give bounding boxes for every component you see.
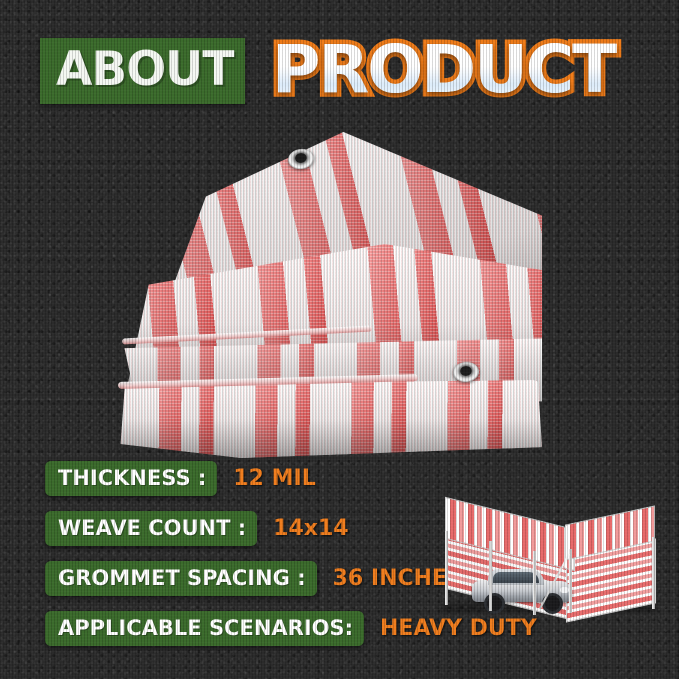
infographic-page: ABOUT PRODUCT PRODUCT xyxy=(0,0,679,679)
spec-label-badge: THICKNESS : xyxy=(45,461,217,496)
spec-label-badge: WEAVE COUNT : xyxy=(45,511,257,546)
carport-post xyxy=(445,531,448,605)
spec-row-thickness: THICKNESS : 12 MIL xyxy=(45,460,645,496)
spec-value: 12 MIL xyxy=(233,466,315,491)
inset-photo-carport xyxy=(437,505,662,615)
product-photo-tarp xyxy=(112,132,542,462)
product-text-fill: PRODUCT xyxy=(272,30,615,110)
spec-label-badge: APPLICABLE SCENARIOS: xyxy=(45,611,364,646)
carport-post xyxy=(569,549,572,613)
tarp-shading xyxy=(112,380,542,458)
spec-value: HEAVY DUTY xyxy=(380,616,537,641)
spec-value: 14x14 xyxy=(273,516,348,541)
spec-label: APPLICABLE SCENARIOS: xyxy=(58,616,353,640)
car-wheel xyxy=(484,593,505,614)
page-header: ABOUT PRODUCT PRODUCT xyxy=(0,30,679,116)
carport-post xyxy=(652,537,655,609)
spec-label-badge: GROMMET SPACING : xyxy=(45,561,317,596)
spec-label: GROMMET SPACING : xyxy=(58,566,306,590)
tarp-fold-bottom xyxy=(112,380,542,458)
spec-label: WEAVE COUNT : xyxy=(58,516,246,540)
car-headlight xyxy=(560,587,569,593)
carport-post xyxy=(533,551,536,615)
carport-post xyxy=(489,541,492,611)
about-label-box: ABOUT xyxy=(40,38,245,104)
about-text: ABOUT xyxy=(56,44,233,96)
spec-label: THICKNESS : xyxy=(58,466,206,490)
